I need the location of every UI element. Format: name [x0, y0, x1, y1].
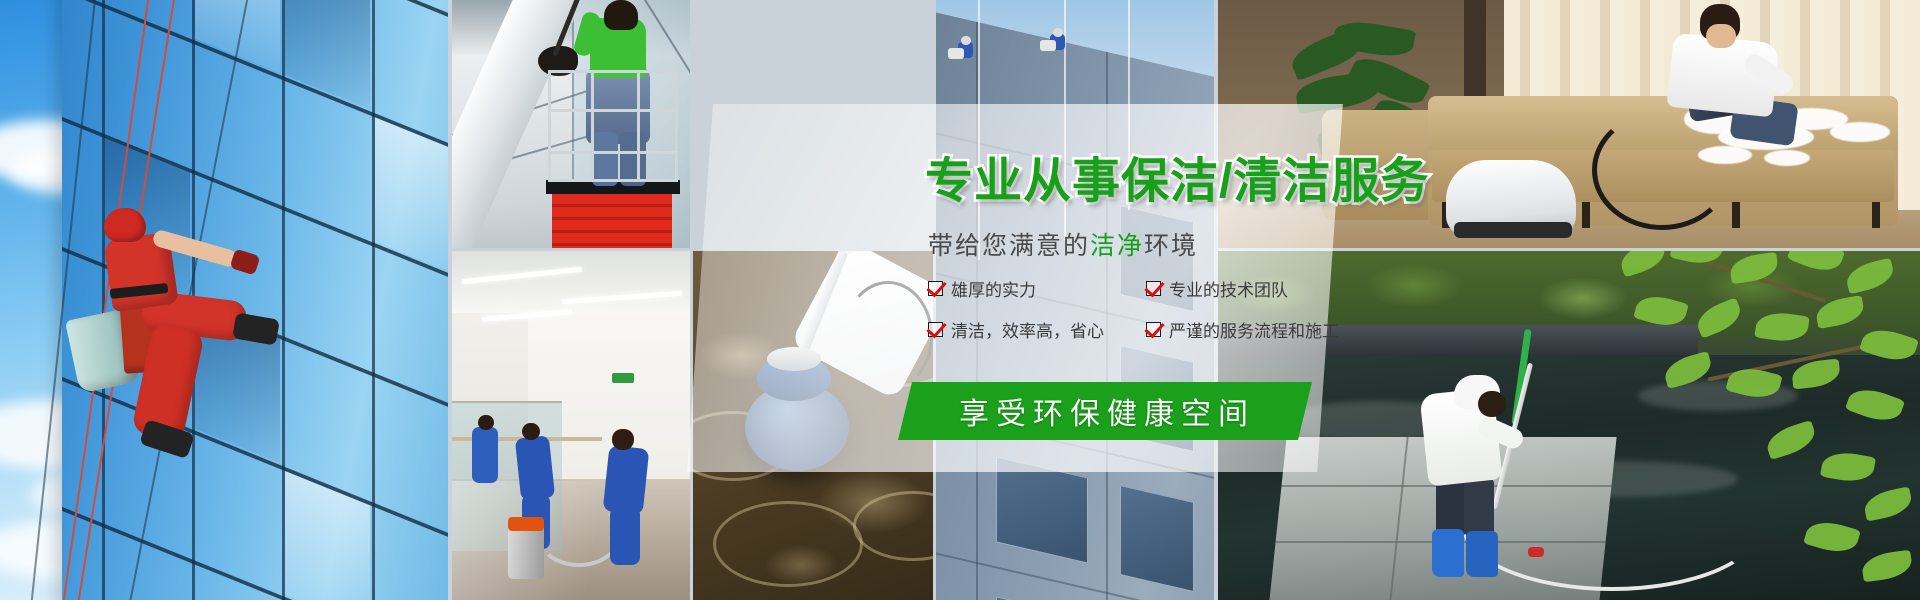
- subtitle-highlight: 洁净: [1090, 232, 1144, 260]
- feature-label: 专业的技术团队: [1169, 276, 1288, 301]
- checkbox-checked-icon: [1146, 322, 1161, 337]
- photo-gondola-glass-cleaning: [452, 0, 690, 248]
- facade-worker: [1048, 28, 1068, 52]
- cta-button[interactable]: 享受环保健康空间: [898, 382, 1312, 440]
- banner-subtitle: 带给您满意的洁净环境: [928, 226, 1198, 262]
- exit-sign: [612, 373, 634, 383]
- feature-label: 清洁，效率高，省心: [951, 317, 1104, 342]
- cleaning-technician: [1648, 4, 1798, 144]
- pond-cleaning-worker: [1406, 369, 1526, 579]
- photo-lobby-floor-mopping: [452, 251, 690, 600]
- checkbox-checked-icon: [1146, 281, 1161, 296]
- subtitle-prefix: 带给您满意的: [928, 232, 1090, 260]
- photo-window-cleaner-glass-facade: [0, 0, 448, 600]
- safety-helmet: [104, 208, 146, 242]
- rubber-boot: [1432, 529, 1464, 577]
- feature-row: 雄厚的实力 专业的技术团队: [928, 276, 1348, 301]
- checkbox-checked-icon: [928, 322, 943, 337]
- overhanging-tree: [1610, 251, 1920, 600]
- cleaning-worker: [603, 445, 650, 515]
- feature-row: 清洁，效率高，省心 严谨的服务流程和施工: [928, 317, 1348, 342]
- rope-access-worker: [86, 190, 286, 450]
- feature-item-process: 严谨的服务流程和施工: [1146, 317, 1339, 342]
- feature-item-team: 专业的技术团队: [1146, 276, 1288, 301]
- gondola-safety-cage: [548, 70, 678, 182]
- banner-copy-block: 专业从事保洁/清洁服务 带给您满意的洁净环境 雄厚的实力 专业的技术团队 清洁，…: [700, 104, 1340, 484]
- facade-worker: [956, 36, 976, 60]
- promo-banner: 专业从事保洁/清洁服务 带给您满意的洁净环境 雄厚的实力 专业的技术团队 清洁，…: [0, 0, 1920, 600]
- subtitle-suffix: 环境: [1144, 232, 1198, 260]
- feature-item-efficiency: 清洁，效率高，省心: [928, 317, 1146, 342]
- feature-label: 严谨的服务流程和施工: [1169, 317, 1339, 342]
- feature-item-strength: 雄厚的实力: [928, 276, 1146, 301]
- cta-label: 享受环保健康空间: [959, 389, 1255, 433]
- feature-list: 雄厚的实力 专业的技术团队 清洁，效率高，省心 严谨的服务流程和施工: [928, 276, 1348, 358]
- banner-headline: 专业从事保洁/清洁服务: [925, 158, 1429, 206]
- wet-vacuum: [508, 523, 544, 579]
- checkbox-checked-icon: [928, 281, 943, 296]
- feature-label: 雄厚的实力: [951, 276, 1036, 301]
